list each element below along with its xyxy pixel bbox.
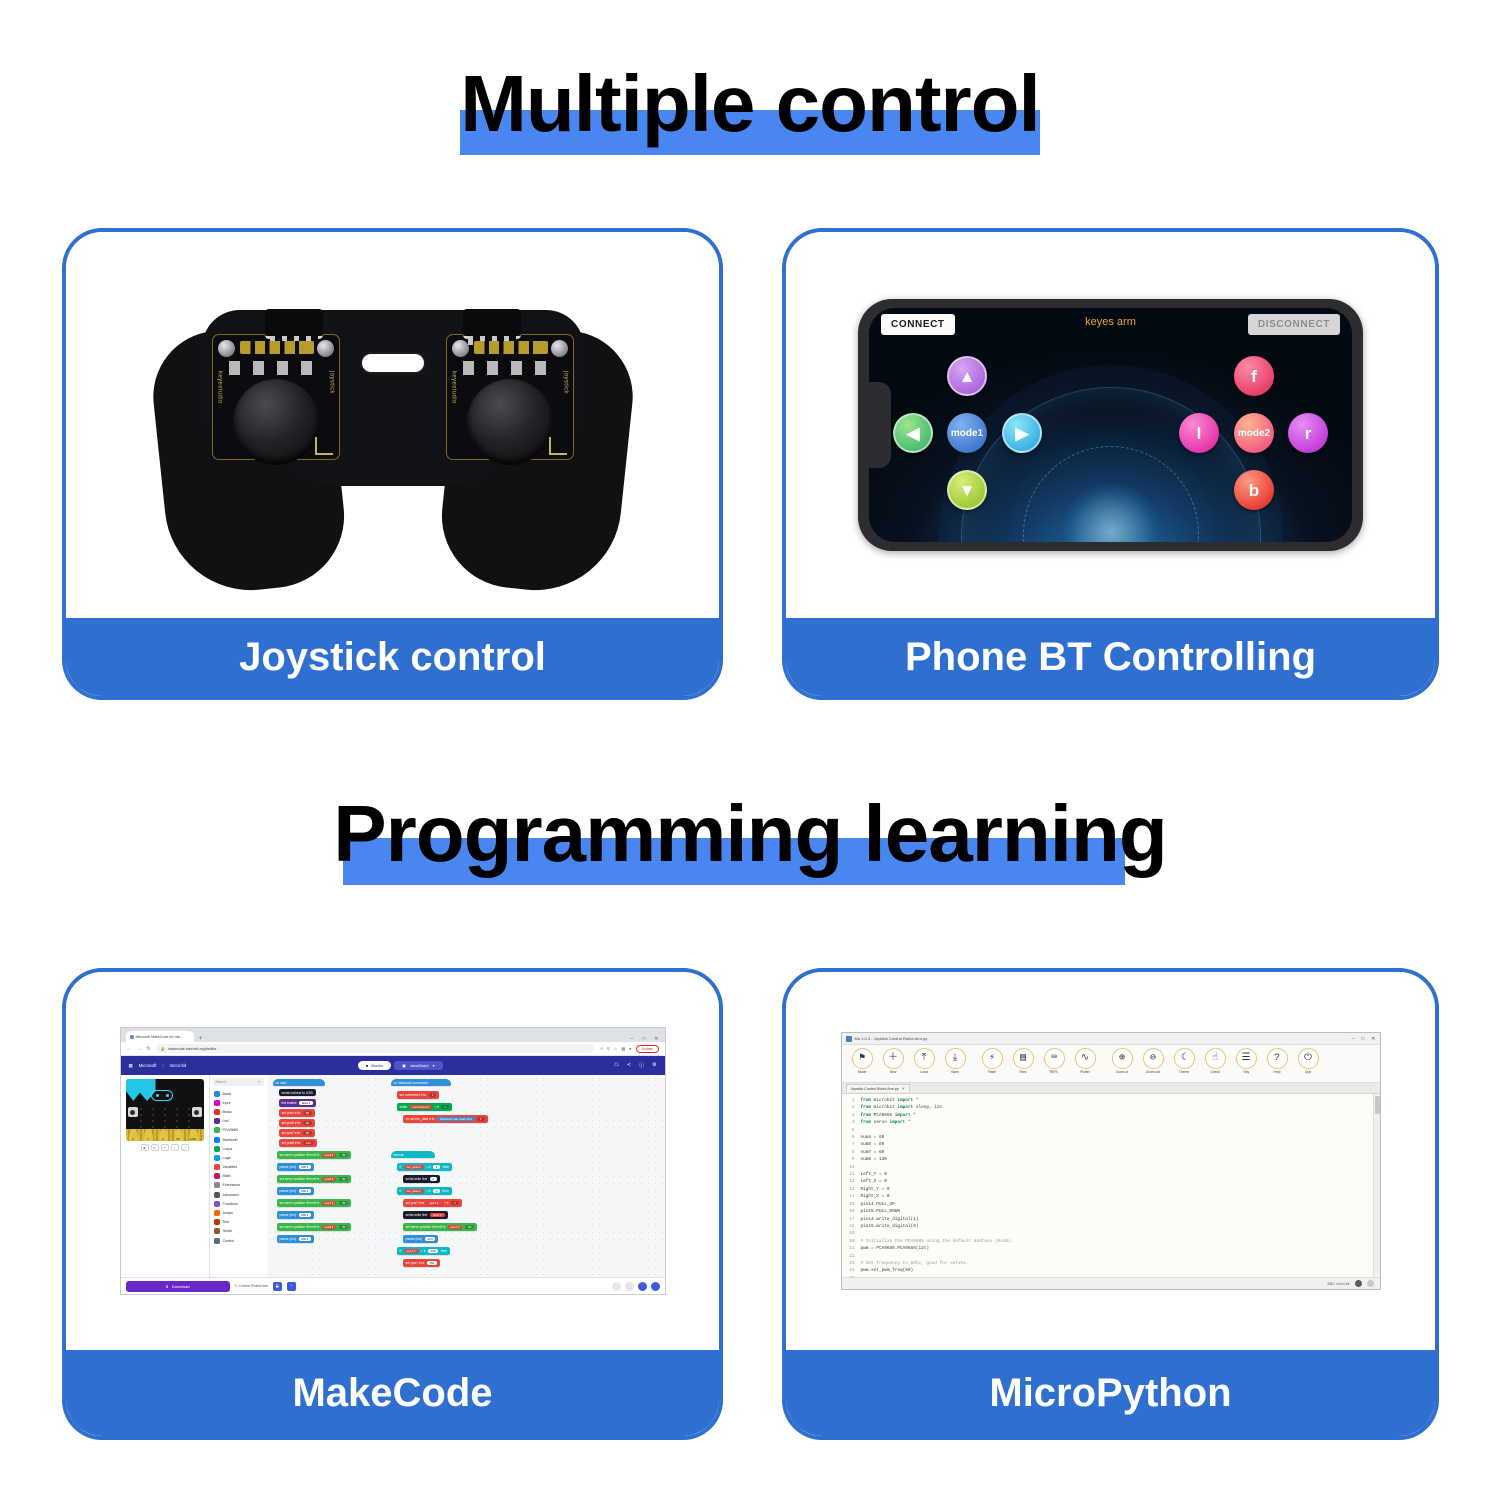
mu-file-tab[interactable]: Joystick Control Robot Arm.py ✕ xyxy=(846,1084,911,1092)
block-value-input[interactable]: 200 ▾ xyxy=(299,1237,312,1242)
category-label: Basic xyxy=(223,1092,232,1096)
block-value-input[interactable]: g xyxy=(433,1189,440,1194)
block-label: pause (ms) xyxy=(406,1237,423,1241)
line-number: 20 xyxy=(842,1238,855,1245)
makecode-block[interactable]: on start xyxy=(273,1079,325,1086)
mu-tool-label: New xyxy=(890,1070,897,1074)
category-color-icon xyxy=(214,1238,220,1244)
block-number-input[interactable]: 130 xyxy=(303,1141,314,1146)
toolbox-category-variables[interactable]: Variables xyxy=(210,1163,267,1172)
flash-icon: ⚡ xyxy=(982,1048,1003,1069)
makecode-block[interactable]: pause (ms)10 ▾ xyxy=(403,1235,439,1243)
mu-code-area[interactable]: 1234567891011121314151617181920212223242… xyxy=(842,1094,1380,1277)
b-button[interactable]: b xyxy=(1234,470,1274,510)
block-label: set servo position Servo5 ▾ xyxy=(406,1225,446,1229)
joystick-controller-photo: keyestudio joystick keyestudio joystick xyxy=(66,232,719,618)
code-line: from servo import * xyxy=(861,1119,1380,1126)
thumbstick-right[interactable] xyxy=(467,379,553,465)
makecode-block[interactable]: set pos4 ▾ to60 xyxy=(279,1109,316,1117)
block-value-input[interactable]: 150 xyxy=(427,1261,437,1266)
code-line: pin15.PULL_DOWN xyxy=(861,1208,1380,1215)
card-makecode: Microsoft MakeCode for mic... + – □ ✕ ← … xyxy=(62,968,723,1440)
project-name-text: Control Robot Arm xyxy=(239,1284,269,1288)
star-icon[interactable]: ☆ xyxy=(614,1046,618,1051)
line-number: 22 xyxy=(842,1253,855,1260)
joystick-module-right: keyestudio joystick xyxy=(446,334,574,460)
category-color-icon xyxy=(214,1127,220,1133)
category-label: Led xyxy=(223,1119,229,1123)
zoom-in-icon[interactable] xyxy=(638,1282,647,1291)
makecode-block[interactable]: serial write lineF xyxy=(403,1175,440,1183)
blocks-canvas[interactable]: on startserial redirect to USBled enable… xyxy=(267,1075,665,1277)
mu-window-title: Mu 1.0.3 - Joystick Control Robot Arm.py xyxy=(855,1036,928,1041)
makecode-block[interactable]: pause (ms)200 ▾ xyxy=(277,1163,315,1171)
mu-tool-repl[interactable]: ⌨REPL xyxy=(1039,1048,1070,1074)
mu-tool-load[interactable]: ⤒Load xyxy=(909,1048,940,1074)
code-line: from microbit import sleep, i2c xyxy=(861,1104,1380,1111)
download-button[interactable]: ⬇ Download xyxy=(126,1281,230,1292)
cable-connector-left-icon xyxy=(265,309,323,339)
block-variable-slot[interactable]: pos7 ▾ xyxy=(427,1201,442,1206)
block-label: if xyxy=(400,1249,402,1253)
section-title-programming-learning: Programming learning xyxy=(0,788,1500,880)
project-name-field[interactable]: ✎ Control Robot Arm xyxy=(235,1284,269,1288)
joystick-module-left: keyestudio joystick xyxy=(212,334,340,460)
block-number-input[interactable]: 60 xyxy=(303,1131,312,1136)
makecode-body: 0 1 2 3V GND ■ ↻ ⏱ ♪ ⤢ xyxy=(121,1075,665,1277)
block-tail-label: then xyxy=(443,1189,449,1193)
mu-tool-quit[interactable]: ⏻Quit xyxy=(1293,1048,1324,1074)
lock-icon: 🔒 xyxy=(161,1047,165,1051)
browser-actions: ↗ ⚲ ☆ ▦ ● Update xyxy=(599,1045,658,1053)
mu-tool-label: Zoom-in xyxy=(1116,1070,1128,1074)
mu-title-bar: Mu 1.0.3 - Joystick Control Robot Arm.py… xyxy=(842,1033,1380,1045)
zoom-out-icon: ⊖ xyxy=(1143,1048,1164,1069)
block-number-input[interactable]: 60 xyxy=(465,1225,474,1230)
mu-tool-label: Plotter xyxy=(1080,1070,1090,1074)
mu-status-text: BBC micro:bit xyxy=(1328,1282,1350,1286)
browser-tab-title: Microsoft MakeCode for mic... xyxy=(136,1035,184,1039)
line-number: 21 xyxy=(842,1245,855,1252)
category-label: Extensions xyxy=(223,1183,241,1187)
block-operator: = ▾ xyxy=(426,1189,431,1193)
search-icon[interactable]: ⚲ xyxy=(607,1046,610,1051)
block-variable-slot[interactable]: pos7 ▾ xyxy=(448,1225,463,1230)
block-number-input[interactable]: ▾ xyxy=(477,1117,485,1122)
toolbox-category-extensions[interactable]: Extensions xyxy=(210,1181,267,1190)
minimize-icon[interactable]: – xyxy=(1351,1036,1354,1042)
toolbox-category-control[interactable]: Control xyxy=(210,1236,267,1245)
pin-pad-0: 0 xyxy=(129,1129,138,1141)
line-number: 1 xyxy=(842,1097,855,1104)
status-indicator-icon xyxy=(1355,1280,1362,1287)
card-joystick-control: keyestudio joystick keyestudio joystick xyxy=(62,228,723,700)
toolbox-category-math[interactable]: Math xyxy=(210,1172,267,1181)
mu-tool-new[interactable]: ＋New xyxy=(878,1048,909,1074)
toolbox-category-functions[interactable]: Functions xyxy=(210,1199,267,1208)
browser-tab[interactable]: Microsoft MakeCode for mic... xyxy=(126,1031,194,1042)
code-line: Right_Y = 0 xyxy=(861,1186,1380,1193)
disconnect-button[interactable]: DISCONNECT xyxy=(1248,314,1340,335)
category-label: Functions xyxy=(223,1202,239,1206)
block-value-input[interactable]: false ▾ xyxy=(299,1101,313,1106)
toolbox-category-advanced[interactable]: Advanced xyxy=(210,1190,267,1199)
toolbox-category-basic[interactable]: Basic xyxy=(210,1089,267,1098)
update-button[interactable]: Update xyxy=(636,1045,659,1053)
js-icon: ▣ xyxy=(402,1063,406,1068)
block-number-input[interactable]: 1 xyxy=(429,1093,437,1098)
gamepad-illustration: keyestudio joystick keyestudio joystick xyxy=(113,232,673,618)
makecode-block[interactable]: forever xyxy=(391,1151,435,1158)
block-variable-slot[interactable]: pos7 ▾ xyxy=(430,1213,445,1218)
block-value-input[interactable]: F xyxy=(433,1165,440,1170)
makecode-block[interactable]: set servo position Servo6 ▾pos8 ▾60 xyxy=(277,1223,352,1231)
gear-icon[interactable] xyxy=(1367,1280,1374,1287)
line-number: 12 xyxy=(842,1178,855,1185)
code-line xyxy=(861,1275,1380,1277)
category-color-icon xyxy=(214,1201,220,1207)
makecode-block[interactable]: serial write linepos7 ▾ xyxy=(403,1211,448,1219)
profile-icon[interactable]: ● xyxy=(629,1046,631,1051)
makecode-block[interactable]: set pos8 ▾ to130 xyxy=(279,1139,317,1147)
makecode-app-bar: ▦ Microsoft | micro:bit ■ Blocks ▣ JavaS… xyxy=(121,1056,665,1075)
toolbox-categories: Search... ⚲ BasicInputMusicLedPCA9685Blu… xyxy=(209,1075,267,1277)
block-operator: > ▾ xyxy=(421,1249,426,1253)
silkscreen-brand-left: keyestudio xyxy=(217,371,223,404)
section-title-multiple-control: Multiple control xyxy=(0,58,1500,150)
line-number: 13 xyxy=(842,1186,855,1193)
quit-icon: ⏻ xyxy=(1298,1048,1319,1069)
makecode-block[interactable]: do set rec_data ▾ tobluetooth uart read … xyxy=(403,1115,488,1123)
vertical-scrollbar[interactable] xyxy=(1373,1094,1380,1277)
mu-tool-flash[interactable]: ⚡Flash xyxy=(977,1048,1008,1074)
line-number: 19 xyxy=(842,1230,855,1237)
makecode-block[interactable]: set connected ▾ to1 xyxy=(397,1091,440,1099)
card-caption-phone: Phone BT Controlling xyxy=(786,618,1435,696)
toolbox-category-input[interactable]: Input xyxy=(210,1098,267,1107)
block-variable-slot[interactable]: pos7 ▾ xyxy=(322,1201,337,1206)
favicon-icon xyxy=(130,1035,134,1039)
block-variable-slot[interactable]: pos8 ▾ xyxy=(322,1225,337,1230)
block-number-input[interactable]: 60 xyxy=(303,1111,312,1116)
download-icon: ⬇ xyxy=(165,1284,168,1289)
makecode-block[interactable]: ifrec_data ▾= ▾Fthen xyxy=(397,1163,453,1171)
makecode-block[interactable]: ifpos7 ▾> ▾150then xyxy=(397,1247,451,1255)
makecode-block[interactable]: led enablefalse ▾ xyxy=(279,1099,317,1107)
toolbox-category-music[interactable]: Music xyxy=(210,1107,267,1116)
connect-button[interactable]: CONNECT xyxy=(881,314,955,335)
button-a[interactable] xyxy=(128,1107,138,1117)
code-line xyxy=(861,1230,1380,1237)
l-button[interactable]: l xyxy=(1179,413,1219,453)
block-variable-slot[interactable]: rec_data ▾ xyxy=(404,1165,424,1170)
gear-icon[interactable]: ⚙ xyxy=(652,1062,656,1069)
r-button[interactable]: r xyxy=(1288,413,1328,453)
forward-icon[interactable]: → xyxy=(137,1046,142,1052)
brand-microbit: micro:bit xyxy=(170,1063,187,1068)
category-color-icon xyxy=(214,1100,220,1106)
block-value-input[interactable]: 10 ▾ xyxy=(425,1237,436,1242)
makecode-block[interactable]: pause (ms)200 ▾ xyxy=(277,1235,315,1243)
block-tail-label: then xyxy=(443,1165,449,1169)
home-icon[interactable]: ☖ xyxy=(614,1062,618,1069)
block-label: set servo position Servo3 ▾ xyxy=(280,1153,320,1157)
slow-icon[interactable]: ⏱ xyxy=(161,1144,169,1151)
toolbox-search-input[interactable]: Search... ⚲ xyxy=(213,1078,264,1086)
makecode-block[interactable]: set servo position Servo5 ▾pos7 ▾60 xyxy=(403,1223,478,1231)
mu-app-icon xyxy=(846,1036,852,1042)
tidy-icon: ☰ xyxy=(1236,1048,1257,1069)
chevron-right-icon: ▶ xyxy=(1015,425,1028,442)
code-text[interactable]: from microbit import *from microbit impo… xyxy=(858,1094,1380,1277)
block-value-input[interactable]: 150 xyxy=(428,1249,438,1254)
mu-toolbar: ⚑Mode＋New⤒Load⤓Save⚡Flash▤Files⌨REPL∿Plo… xyxy=(842,1045,1380,1083)
line-number: 10 xyxy=(842,1164,855,1171)
line-number: 7 xyxy=(842,1141,855,1148)
makecode-block[interactable]: set pos7 ▾ to150 xyxy=(403,1259,440,1267)
category-label: Control xyxy=(223,1239,235,1243)
makecode-block[interactable]: on bluetooth connected xyxy=(391,1079,451,1086)
line-number: 14 xyxy=(842,1193,855,1200)
category-color-icon xyxy=(214,1137,220,1143)
code-line: Right_X = 0 xyxy=(861,1193,1380,1200)
code-line: num8 = 130 xyxy=(861,1156,1380,1163)
mu-tool-help[interactable]: ?Help xyxy=(1262,1048,1293,1074)
makecode-block[interactable]: set pos7 ▾ to60 xyxy=(279,1129,316,1137)
block-variable-slot[interactable]: pos5 ▾ xyxy=(322,1177,337,1182)
makecode-block[interactable]: ifrec_data ▾= ▾gthen xyxy=(397,1187,452,1195)
help-icon: ? xyxy=(1267,1048,1288,1069)
makecode-block[interactable]: whileconnected ▾= ▾1 xyxy=(397,1103,452,1111)
restart-icon[interactable]: ↻ xyxy=(151,1144,159,1151)
line-number: 25 xyxy=(842,1275,855,1277)
phone-notch xyxy=(869,382,891,468)
microbit-simulator[interactable]: 0 1 2 3V GND xyxy=(126,1079,204,1141)
microsoft-logo-icon: ▦ xyxy=(129,1063,133,1069)
extensions-icon[interactable]: ▦ xyxy=(621,1046,625,1051)
mode1-button[interactable]: mode1 xyxy=(947,413,987,453)
back-icon[interactable]: ← xyxy=(127,1046,132,1052)
browser-url-bar: ← → ↻ 🔒 makecode.microbit.org/#editor ↗ … xyxy=(121,1042,665,1056)
block-value-input[interactable]: 200 ▾ xyxy=(299,1165,312,1170)
block-value-input[interactable]: F xyxy=(430,1177,437,1182)
close-icon[interactable]: ✕ xyxy=(902,1086,905,1091)
toolbox-category-pca9685[interactable]: PCA9685 xyxy=(210,1126,267,1135)
makecode-block[interactable]: set pos7 ▾ topos7 ▾+ ▾1 xyxy=(403,1199,462,1207)
share-icon[interactable]: ↗ xyxy=(599,1046,602,1051)
pin-pad-2: 2 xyxy=(159,1129,168,1141)
mu-tool-theme[interactable]: ☾Theme xyxy=(1169,1048,1200,1074)
check-icon: ☝ xyxy=(1205,1048,1226,1069)
mu-tool-label: Tidy xyxy=(1243,1070,1249,1074)
makecode-block[interactable]: set pos5 ▾ to80 xyxy=(279,1119,316,1127)
tab-javascript[interactable]: ▣ JavaScript ▾ xyxy=(394,1061,442,1070)
card-phone-bt-controlling: keyes arm CONNECT DISCONNECT ▲ ◀ mode1 ▶… xyxy=(782,228,1439,700)
help-icon[interactable]: ⓘ xyxy=(639,1062,644,1069)
block-label: serial write line xyxy=(406,1177,428,1181)
block-value-input[interactable]: 200 ▾ xyxy=(299,1213,312,1218)
mu-tool-label: REPL xyxy=(1050,1070,1059,1074)
mu-tool-files[interactable]: ▤Files xyxy=(1008,1048,1039,1074)
mu-tool-check[interactable]: ☝Check xyxy=(1200,1048,1231,1074)
block-label: on start xyxy=(276,1081,287,1085)
code-line: pin15.write_digital(0) xyxy=(861,1223,1380,1230)
save-icon[interactable]: 💾 xyxy=(273,1282,282,1291)
dpad-right-button[interactable]: ▶ xyxy=(1002,413,1042,453)
line-number: 23 xyxy=(842,1260,855,1267)
files-icon: ▤ xyxy=(1013,1048,1034,1069)
screw-icon xyxy=(551,340,568,357)
dpad-down-button[interactable]: ▼ xyxy=(947,470,987,510)
simulator-panel: 0 1 2 3V GND ■ ↻ ⏱ ♪ ⤢ xyxy=(121,1075,209,1277)
block-label: set pos7 ▾ to xyxy=(282,1131,301,1135)
block-operator: + ▾ xyxy=(444,1201,449,1205)
reload-icon[interactable]: ↻ xyxy=(147,1046,151,1052)
category-label: Variables xyxy=(223,1165,238,1169)
block-reporter[interactable]: bluetooth uart read until xyxy=(437,1117,475,1122)
block-label: if xyxy=(400,1165,402,1169)
info-icon[interactable]: i xyxy=(287,1282,296,1291)
mode2-button[interactable]: mode2 xyxy=(1234,413,1274,453)
r-label: r xyxy=(1305,425,1312,442)
redo-icon[interactable] xyxy=(625,1282,634,1291)
close-icon[interactable]: ✕ xyxy=(1371,1036,1375,1042)
search-placeholder: Search... xyxy=(216,1080,229,1084)
download-label: Download xyxy=(172,1284,190,1289)
mode2-label: mode2 xyxy=(1238,428,1270,439)
line-number: 24 xyxy=(842,1267,855,1274)
thumbstick-left[interactable] xyxy=(233,379,319,465)
mu-tool-mode[interactable]: ⚑Mode xyxy=(847,1048,878,1074)
code-line: pin14.PULL_UP xyxy=(861,1201,1380,1208)
code-line xyxy=(861,1253,1380,1260)
editor-mode-toggle: ■ Blocks ▣ JavaScript ▾ xyxy=(358,1061,443,1070)
makecode-block[interactable]: set servo position Servo5 ▾pos7 ▾60 xyxy=(277,1199,352,1207)
block-variable-slot[interactable]: rec_data ▾ xyxy=(404,1189,424,1194)
mu-tool-save[interactable]: ⤓Save xyxy=(940,1048,971,1074)
toolbox-category-serial[interactable]: Serial xyxy=(210,1227,267,1236)
block-number-input[interactable]: 60 xyxy=(339,1225,348,1230)
makecode-block[interactable]: set servo position Servo3 ▾pos4 ▾60 xyxy=(277,1151,352,1159)
code-line: Left_Y = 0 xyxy=(861,1171,1380,1178)
pin-pad-1: 1 xyxy=(144,1129,153,1141)
block-label: set connected ▾ to xyxy=(400,1093,427,1097)
block-operator: = ▾ xyxy=(426,1165,431,1169)
block-label: pause (ms) xyxy=(280,1237,297,1241)
mu-tool-label: Save xyxy=(951,1070,959,1074)
button-b[interactable] xyxy=(192,1107,202,1117)
block-label: forever xyxy=(394,1153,404,1157)
toolbox-category-logic[interactable]: Logic xyxy=(210,1153,267,1162)
category-color-icon xyxy=(214,1228,220,1234)
toolbox-category-text[interactable]: Text xyxy=(210,1218,267,1227)
f-button[interactable]: f xyxy=(1234,356,1274,396)
category-color-icon xyxy=(214,1155,220,1161)
fullscreen-icon[interactable]: ⤢ xyxy=(181,1144,189,1151)
chevron-left-icon: ◀ xyxy=(906,425,919,442)
mu-tool-zoom-in[interactable]: ⊕Zoom-in xyxy=(1107,1048,1138,1074)
scrollbar-thumb[interactable] xyxy=(1375,1096,1380,1114)
category-label: Logic xyxy=(223,1156,232,1160)
screw-icon xyxy=(452,340,469,357)
block-value-input[interactable]: 200 ▾ xyxy=(299,1189,312,1194)
microbit-face-icon xyxy=(151,1090,173,1101)
category-label: Music xyxy=(223,1110,232,1114)
mu-tool-label: Flash xyxy=(988,1070,996,1074)
toolbox-category-bluetooth[interactable]: Bluetooth xyxy=(210,1135,267,1144)
pin-header-right xyxy=(474,341,548,354)
card-caption-joystick: Joystick control xyxy=(66,618,719,696)
makecode-block[interactable]: pause (ms)200 ▾ xyxy=(277,1211,315,1219)
block-number-input[interactable]: 60 xyxy=(339,1201,348,1206)
silkscreen-brand-right: keyestudio xyxy=(451,371,457,404)
maximize-icon[interactable]: □ xyxy=(1361,1036,1364,1042)
block-number-input[interactable]: 60 xyxy=(339,1177,348,1182)
mu-tool-label: Zoom-out xyxy=(1146,1070,1161,1074)
makecode-block[interactable]: set servo position Servo4 ▾pos5 ▾60 xyxy=(277,1175,352,1183)
block-variable-slot[interactable]: connected ▾ xyxy=(410,1105,432,1110)
mu-tool-zoom-out[interactable]: ⊖Zoom-out xyxy=(1138,1048,1169,1074)
code-line xyxy=(861,1127,1380,1134)
category-label: Bluetooth xyxy=(223,1138,238,1142)
brand-microsoft: Microsoft xyxy=(139,1063,157,1068)
line-number: 18 xyxy=(842,1223,855,1230)
makecode-browser-window: Microsoft MakeCode for mic... + – □ ✕ ← … xyxy=(120,1027,666,1295)
makecode-block[interactable]: pause (ms)200 ▾ xyxy=(277,1187,315,1195)
eye-icon xyxy=(166,1094,169,1097)
code-line: num7 = 60 xyxy=(861,1149,1380,1156)
block-number-input[interactable]: 1 xyxy=(451,1201,459,1206)
toolbox-category-led[interactable]: Led xyxy=(210,1117,267,1126)
address-bar[interactable]: 🔒 makecode.microbit.org/#editor xyxy=(156,1044,595,1053)
block-number-input[interactable]: 80 xyxy=(303,1121,312,1126)
plotter-icon: ∿ xyxy=(1075,1048,1096,1069)
share-icon[interactable]: ≺ xyxy=(627,1062,631,1069)
stop-icon[interactable]: ■ xyxy=(141,1144,149,1151)
new-icon: ＋ xyxy=(883,1048,904,1069)
section-title-text: Programming learning xyxy=(333,788,1166,880)
phone-screen: keyes arm CONNECT DISCONNECT ▲ ◀ mode1 ▶… xyxy=(869,308,1352,542)
mu-tool-label: Theme xyxy=(1179,1070,1190,1074)
mute-icon[interactable]: ♪ xyxy=(171,1144,179,1151)
block-variable-slot[interactable]: pos4 ▾ xyxy=(322,1153,337,1158)
pin-pad-gnd: GND xyxy=(189,1129,198,1141)
tab-blocks[interactable]: ■ Blocks xyxy=(358,1061,391,1070)
block-number-input[interactable]: 1 xyxy=(441,1105,449,1110)
zoom-controls xyxy=(612,1282,660,1291)
toolbox-category-arrays[interactable]: Arrays xyxy=(210,1208,267,1217)
makecode-screenshot: Microsoft MakeCode for mic... + – □ ✕ ← … xyxy=(66,972,719,1350)
mu-editor-screenshot: Mu 1.0.3 - Joystick Control Robot Arm.py… xyxy=(786,972,1435,1350)
load-icon: ⤒ xyxy=(914,1048,935,1069)
mu-tool-tidy[interactable]: ☰Tidy xyxy=(1231,1048,1262,1074)
pin-header-left xyxy=(240,341,314,354)
dpad-up-button[interactable]: ▲ xyxy=(947,356,987,396)
toolbox-category-loops[interactable]: Loops xyxy=(210,1144,267,1153)
block-number-input[interactable]: 60 xyxy=(339,1153,348,1158)
dpad-left-button[interactable]: ◀ xyxy=(893,413,933,453)
zoom-out-icon[interactable] xyxy=(651,1282,660,1291)
mu-tool-plotter[interactable]: ∿Plotter xyxy=(1070,1048,1101,1074)
line-number: 3 xyxy=(842,1112,855,1119)
block-variable-slot[interactable]: pos7 ▾ xyxy=(404,1249,419,1254)
makecode-block[interactable]: serial redirect to USB xyxy=(279,1089,316,1096)
category-label: Text xyxy=(223,1220,230,1224)
block-label: set servo position Servo5 ▾ xyxy=(280,1201,320,1205)
card-caption-makecode: MakeCode xyxy=(66,1350,719,1436)
card-micropython: Mu 1.0.3 - Joystick Control Robot Arm.py… xyxy=(782,968,1439,1440)
undo-icon[interactable] xyxy=(612,1282,621,1291)
